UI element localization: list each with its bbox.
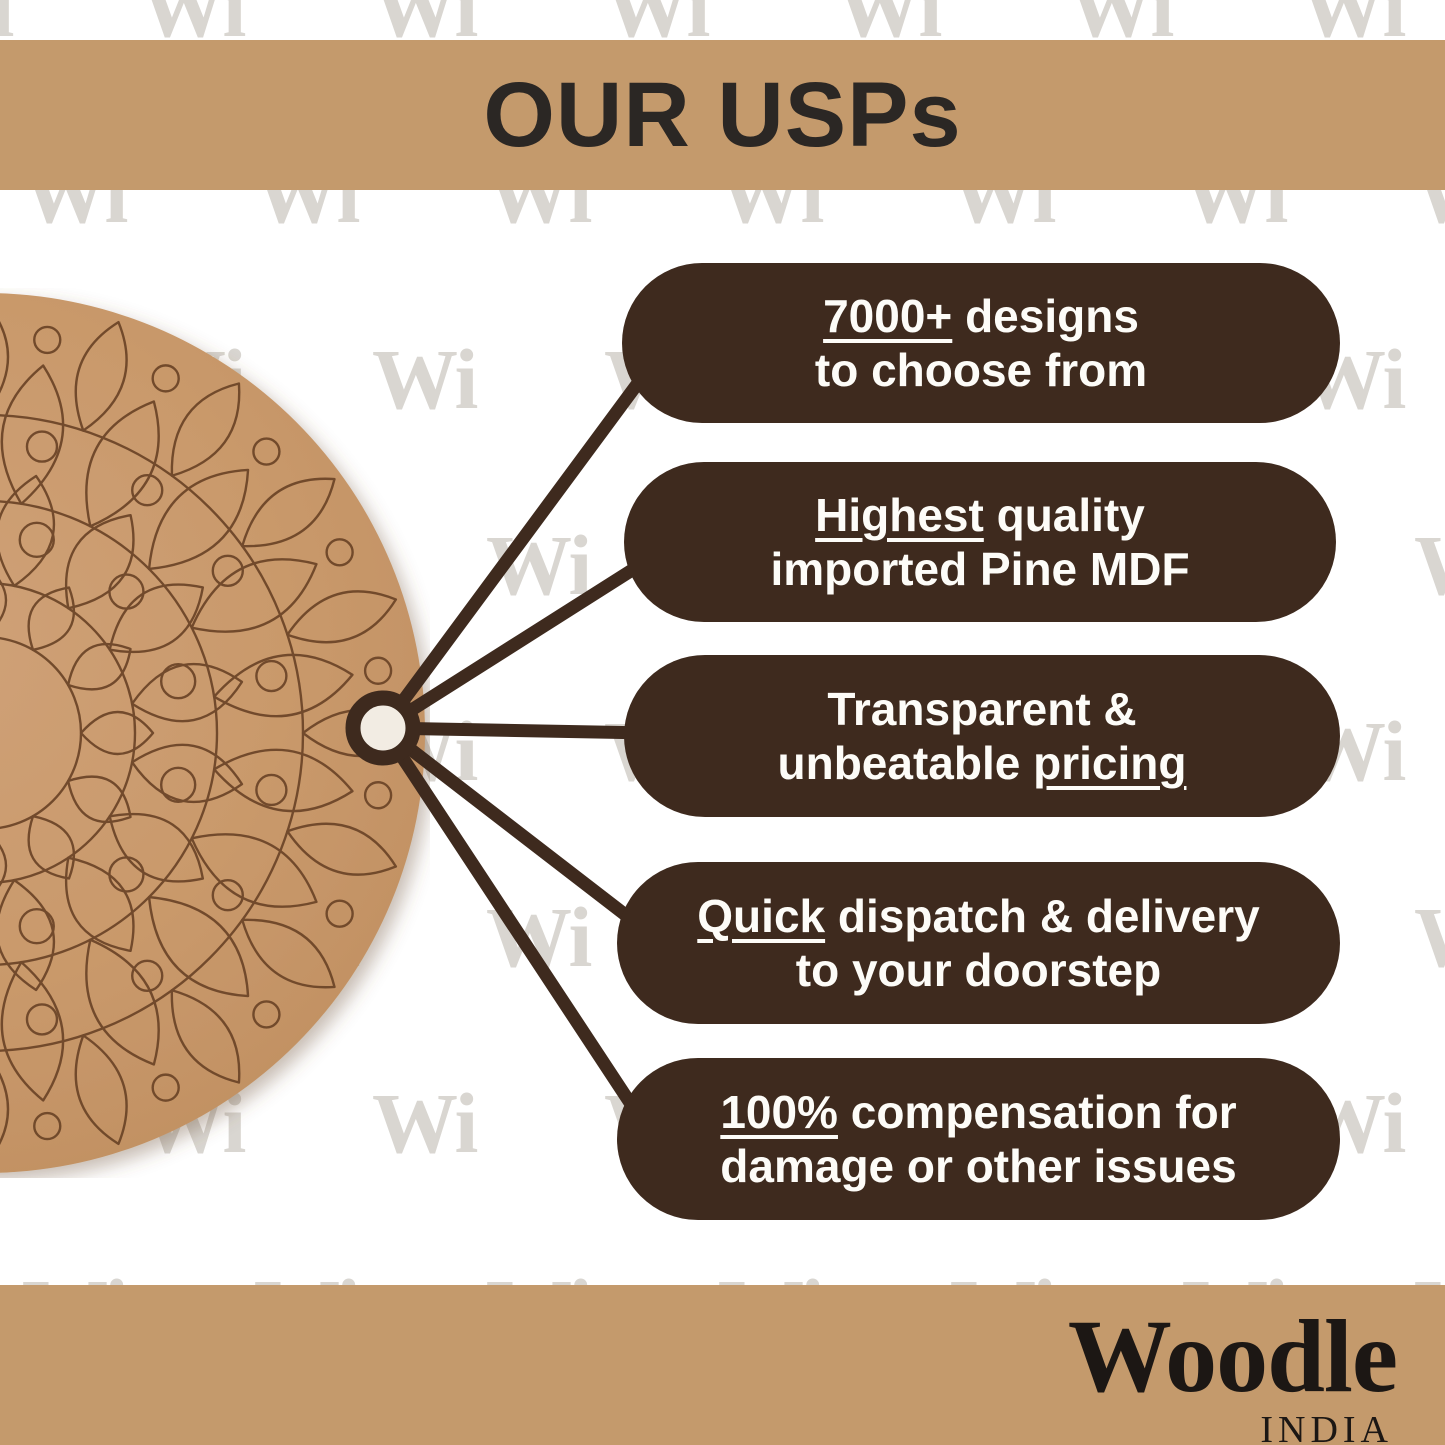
- usp-pill-transparent-pricing[interactable]: Transparent & unbeatable pricing: [624, 655, 1340, 817]
- infographic-canvas: WiWiWiWiWiWiWiWiWiWiWiWiWiWiWiWiWiWiWiWi…: [0, 0, 1445, 1445]
- usp-line-1: 100% compensation for: [720, 1085, 1236, 1139]
- watermark-wi: Wi: [1414, 894, 1445, 980]
- usp-line-2: to your doorstep: [796, 943, 1161, 997]
- usp-pill-damage-compensation[interactable]: 100% compensation for damage or other is…: [617, 1058, 1340, 1220]
- usp-line-2: imported Pine MDF: [770, 542, 1189, 596]
- usp-pill-quick-dispatch[interactable]: Quick dispatch & delivery to your doorst…: [617, 862, 1340, 1024]
- usp-line-2: damage or other issues: [720, 1139, 1236, 1193]
- usp-line-1: Transparent &: [827, 682, 1136, 736]
- usp-line-2: unbeatable pricing: [778, 736, 1187, 790]
- usp-line-1: Highest quality: [815, 488, 1145, 542]
- watermark-wi: Wi: [1414, 522, 1445, 608]
- brand-name: Woodle: [1068, 1305, 1397, 1409]
- usp-pill-designs-count[interactable]: 7000+ designs to choose from: [622, 263, 1340, 423]
- brand-subtitle: INDIA: [1068, 1411, 1393, 1445]
- mandala-mdf-product: [0, 288, 430, 1178]
- watermark-wi: Wi: [486, 894, 590, 980]
- page-title: OUR USPs: [0, 40, 1445, 190]
- watermark-wi: Wi: [486, 522, 590, 608]
- usp-line-1: Quick dispatch & delivery: [697, 889, 1259, 943]
- usp-line-2: to choose from: [815, 343, 1147, 397]
- usp-pill-material-quality[interactable]: Highest quality imported Pine MDF: [624, 462, 1336, 622]
- usp-line-1: 7000+ designs: [823, 289, 1139, 343]
- brand-logo: Woodle INDIA: [1068, 1305, 1397, 1445]
